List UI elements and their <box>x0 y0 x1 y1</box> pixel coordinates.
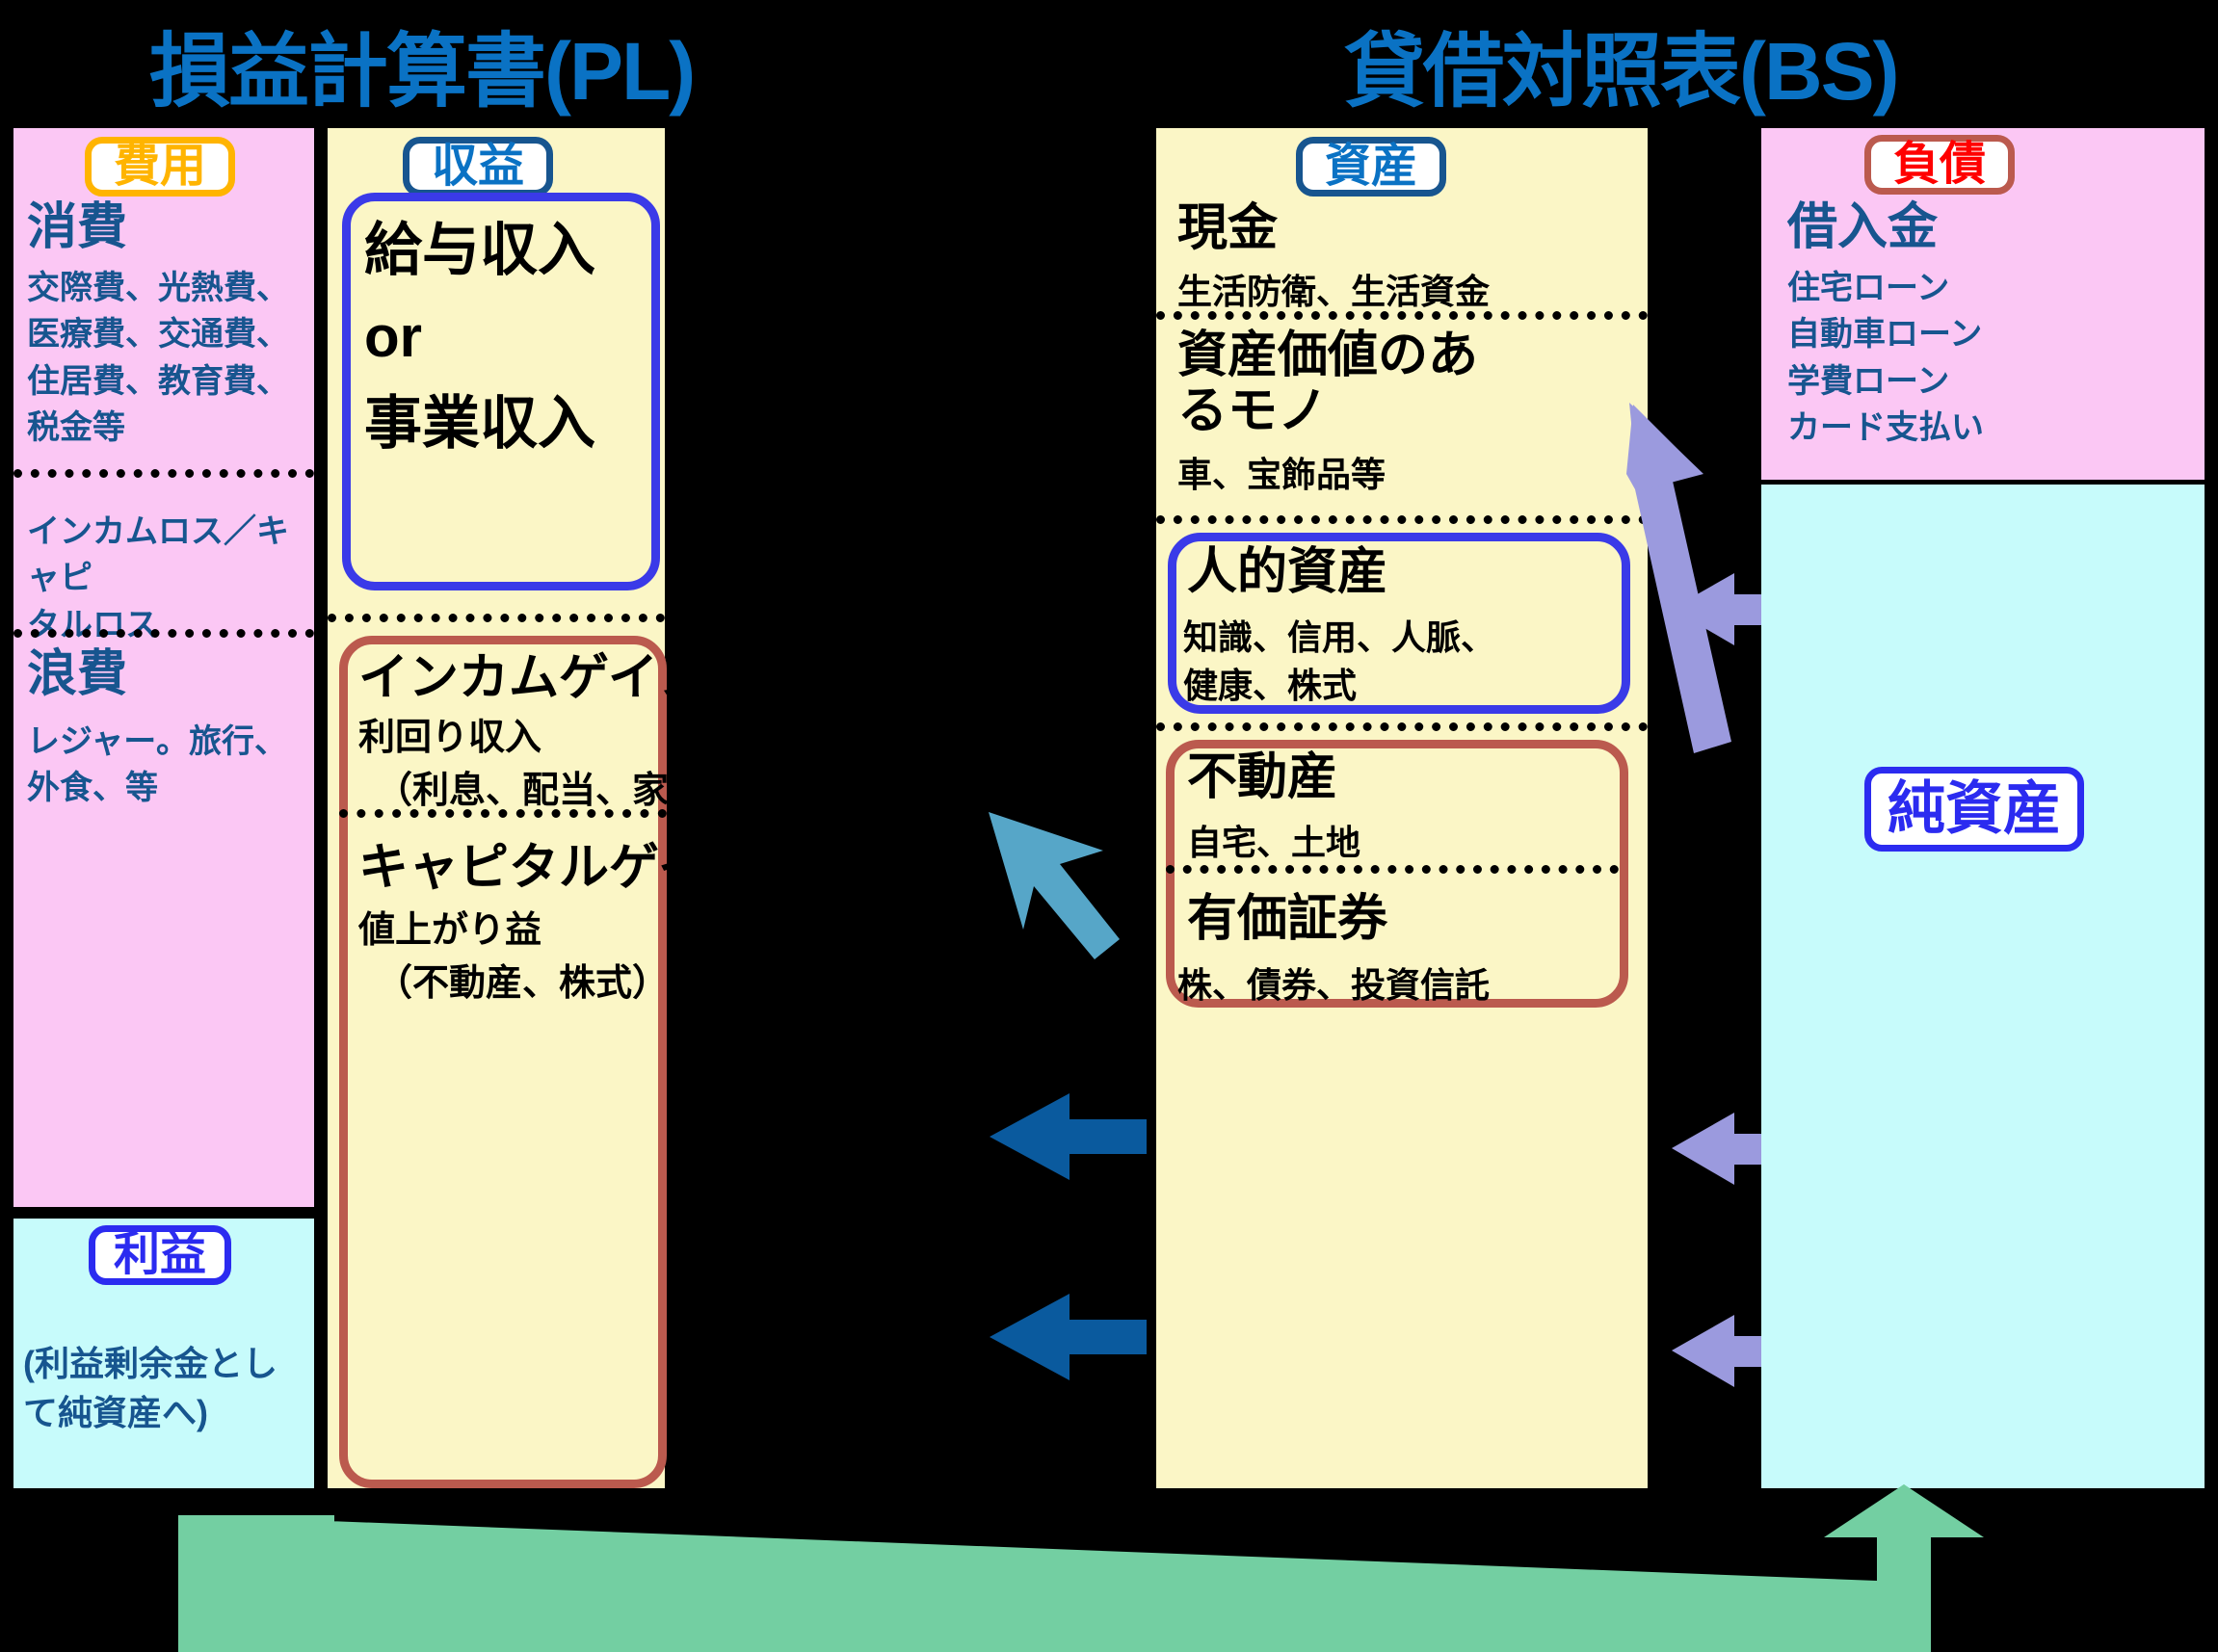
expense-divider-2 <box>13 629 314 638</box>
consumption-line-4: 税金等 <box>27 405 316 451</box>
consumption-line-2: 医療費、交通費、 <box>27 311 316 357</box>
revenue-divider-2 <box>339 809 667 818</box>
asset-divider-1 <box>1156 311 1648 320</box>
arrow-left-navy-capital-icon <box>990 1294 1147 1380</box>
capital-gain-heading: キャピタルゲイン <box>358 840 758 896</box>
net-asset-tag: 純資産 <box>1864 767 2084 852</box>
consumption-line-3: 住居費、教育費、 <box>27 358 316 405</box>
consumption-lines: 交際費、光熱費、 医療費、交通費、 住居費、教育費、 税金等 <box>27 265 316 451</box>
revenue-divider-1 <box>328 614 665 622</box>
waste-heading: 浪費 <box>27 647 127 701</box>
borrowing-line-3: 学費ローン <box>1787 358 2202 405</box>
salary-line-3: 事業収入 <box>364 380 653 467</box>
salary-income-lines: 給与収入 or 事業収入 <box>364 207 653 467</box>
cash-heading: 現金 <box>1177 200 1278 256</box>
borrowing-line-1: 住宅ローン <box>1787 265 2202 311</box>
real-estate-sub: 自宅、土地 <box>1187 819 1360 867</box>
profit-line-1: (利益剰余金とし <box>23 1339 322 1388</box>
waste-line-1: レジャー。旅行、 <box>27 719 316 765</box>
arrow-left-purple-human-icon <box>1672 573 1761 645</box>
loss-line-2: タルロス <box>27 602 316 648</box>
salary-line-1: 給与収入 <box>364 207 653 294</box>
human-capital-heading: 人的資産 <box>1187 544 1387 600</box>
human-capital-sub-line-1: 知識、信用、人脈、 <box>1183 614 1636 662</box>
securities-sub: 株、債券、投資信託 <box>1177 961 1490 1010</box>
arrow-left-purple-securities-icon <box>1672 1315 1761 1387</box>
valuables-sub: 車、宝飾品等 <box>1177 451 1386 499</box>
profit-line-2: て純資産へ) <box>23 1388 322 1437</box>
arrow-left-purple-realestate-icon <box>1672 1113 1761 1185</box>
income-gain-sub: 利回り収入 <box>358 713 541 764</box>
profit-lines: (利益剰余金とし て純資産へ) <box>23 1339 322 1437</box>
asset-divider-2 <box>1156 515 1648 524</box>
net-asset-panel <box>1761 485 2205 1488</box>
arrow-diagonal-up-left-teal-icon <box>989 812 1120 959</box>
asset-divider-3 <box>1156 722 1648 731</box>
page-title-pl: 損益計算書(PL) <box>149 31 694 112</box>
cash-sub: 生活防衛、生活資金 <box>1177 268 1490 316</box>
loss-lines: インカムロス／キャピ タルロス <box>27 509 316 648</box>
capital-gain-detail: （不動産、株式） <box>376 958 669 1010</box>
loss-line-1: インカムロス／キャピ <box>27 509 316 602</box>
borrowing-lines: 住宅ローン 自動車ローン 学費ローン カード支払い <box>1787 265 2202 451</box>
liability-tag: 負債 <box>1864 135 2015 195</box>
profit-tag: 利益 <box>89 1225 231 1285</box>
securities-heading: 有価証券 <box>1187 891 1387 947</box>
valuables-heading-line-2: るモノ <box>1177 383 1640 439</box>
salary-line-2: or <box>364 294 653 380</box>
consumption-line-1: 交際費、光熱費、 <box>27 265 316 311</box>
revenue-tag: 収益 <box>403 137 553 197</box>
human-capital-sub-line-2: 健康、株式 <box>1183 662 1636 710</box>
capital-gain-sub: 値上がり益 <box>358 905 541 957</box>
asset-divider-4 <box>1166 865 1619 874</box>
valuables-heading-line-1: 資産価値のあ <box>1177 328 1640 383</box>
borrowing-line-4: カード支払い <box>1787 405 2202 451</box>
expense-divider-1 <box>13 469 314 478</box>
waste-lines: レジャー。旅行、 外食、等 <box>27 719 316 812</box>
human-capital-sub: 知識、信用、人脈、 健康、株式 <box>1183 614 1636 711</box>
consumption-heading: 消費 <box>27 200 127 254</box>
diagram-canvas: 損益計算書(PL) 貸借対照表(BS) 費用 消費 交際費、光熱費、 医療費、交… <box>0 0 2218 1652</box>
asset-tag: 資産 <box>1296 137 1446 197</box>
arrow-left-navy-income-icon <box>990 1093 1147 1180</box>
page-title-bs: 貸借対照表(BS) <box>1344 31 1898 112</box>
borrowing-line-2: 自動車ローン <box>1787 311 2202 357</box>
valuables-heading: 資産価値のあ るモノ <box>1177 328 1640 439</box>
waste-line-2: 外食、等 <box>27 765 316 811</box>
expense-tag: 費用 <box>85 137 235 197</box>
income-gain-heading: インカムゲイン <box>358 650 708 706</box>
borrowing-heading: 借入金 <box>1787 200 1938 254</box>
real-estate-heading: 不動産 <box>1187 749 1337 805</box>
arrow-flow-green-profit-to-networth-icon <box>178 1484 1984 1652</box>
